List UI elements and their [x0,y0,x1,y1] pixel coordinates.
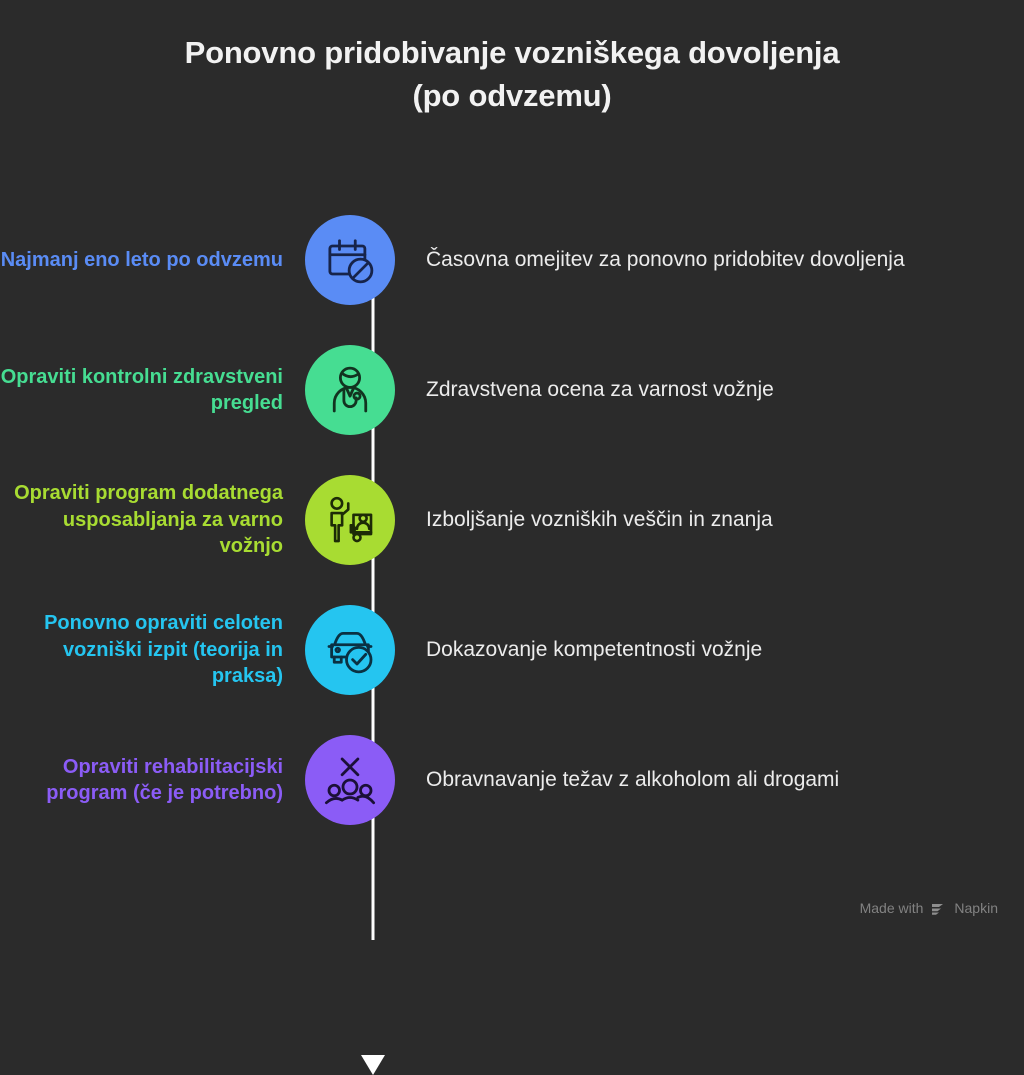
step-description: Obravnavanje težav z alkoholom ali droga… [395,766,1024,795]
step-icon-badge [305,605,395,695]
page-title: Ponovno pridobivanje vozniškega dovoljen… [0,32,1024,118]
step-label: Opraviti rehabilitacijski program (če je… [0,754,305,807]
instructor-car-icon [322,492,378,548]
timeline-step-5[interactable]: Opraviti rehabilitacijski program (če je… [0,735,1024,825]
step-icon-badge [305,215,395,305]
step-label: Opraviti kontrolni zdravstveni pregled [0,364,305,417]
step-label: Ponovno opraviti celoten vozniški izpit … [0,610,305,689]
group-x-icon [322,752,378,808]
timeline-step-1[interactable]: Najmanj eno leto po odvzemu Časovna omej… [0,215,1024,305]
step-description: Časovna omejitev za ponovno pridobitev d… [395,246,1024,275]
step-description: Dokazovanje kompetentnosti vožnje [395,636,1024,665]
step-icon-badge [305,735,395,825]
car-check-icon [322,622,378,678]
infographic-canvas: Ponovno pridobivanje vozniškega dovoljen… [0,0,1024,942]
step-description: Izboljšanje vozniških veščin in znanja [395,506,1024,535]
watermark-prefix: Made with [860,900,924,916]
step-label: Opraviti program dodatnega usposabljanja… [0,480,305,559]
doctor-icon [322,362,378,418]
timeline-step-2[interactable]: Opraviti kontrolni zdravstveni pregled Z… [0,345,1024,435]
napkin-logo-icon [930,901,947,916]
napkin-watermark: Made with Napkin [860,900,998,916]
watermark-brand: Napkin [954,900,998,916]
step-icon-badge [305,475,395,565]
timeline-step-3[interactable]: Opraviti program dodatnega usposabljanja… [0,475,1024,565]
timeline-step-4[interactable]: Ponovno opraviti celoten vozniški izpit … [0,605,1024,695]
step-description: Zdravstvena ocena za varnost vožnje [395,376,1024,405]
timeline-arrow-icon [361,1055,385,1075]
step-label: Najmanj eno leto po odvzemu [0,247,305,273]
calendar-blocked-icon [322,232,378,288]
step-icon-badge [305,345,395,435]
